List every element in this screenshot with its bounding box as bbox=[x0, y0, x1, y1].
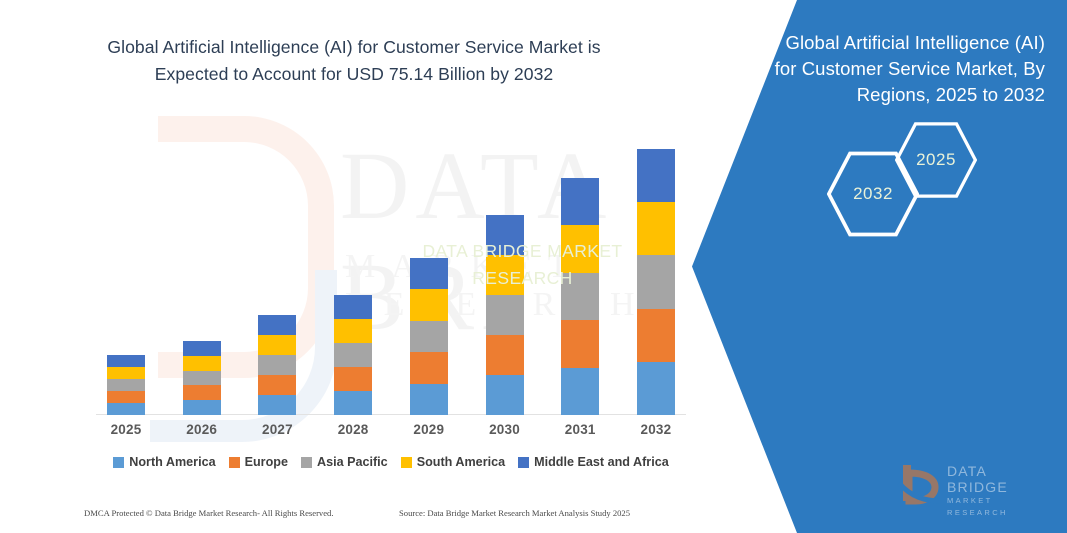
bar-segment bbox=[334, 319, 372, 343]
legend-item[interactable]: Middle East and Africa bbox=[518, 455, 669, 469]
x-axis-tick-2030: 2030 bbox=[475, 422, 535, 437]
infographic-canvas: DATA BRI MARKET RESEARCH Global Artifici… bbox=[0, 0, 1067, 533]
x-axis-tick-2029: 2029 bbox=[399, 422, 459, 437]
bar-segment bbox=[637, 362, 675, 415]
bar-segment bbox=[183, 400, 221, 415]
x-axis-tick-2028: 2028 bbox=[323, 422, 383, 437]
bar-segment bbox=[107, 403, 145, 415]
x-axis-tick-2025: 2025 bbox=[96, 422, 156, 437]
bar-segment bbox=[561, 320, 599, 367]
legend-item[interactable]: Europe bbox=[229, 455, 288, 469]
x-axis-tick-2032: 2032 bbox=[626, 422, 686, 437]
bar-segment bbox=[183, 356, 221, 371]
x-axis-tick-labels: 20252026202720282029203020312032 bbox=[96, 422, 686, 437]
bar-segment bbox=[107, 355, 145, 367]
bar-segment bbox=[107, 379, 145, 391]
bar-segment bbox=[258, 335, 296, 355]
legend-item[interactable]: North America bbox=[113, 455, 215, 469]
legend-swatch-icon bbox=[113, 457, 124, 468]
x-axis-tick-2031: 2031 bbox=[550, 422, 610, 437]
legend-item[interactable]: South America bbox=[401, 455, 505, 469]
legend-swatch-icon bbox=[301, 457, 312, 468]
hexagon-badge-2032-label: 2032 bbox=[853, 184, 893, 204]
stacked-bar bbox=[258, 315, 296, 415]
stacked-bar bbox=[334, 295, 372, 415]
bar-segment bbox=[637, 309, 675, 362]
x-axis-tick-2026: 2026 bbox=[172, 422, 232, 437]
legend-label: Middle East and Africa bbox=[534, 455, 669, 469]
bar-segment bbox=[334, 343, 372, 367]
hexagon-badges: 2032 2025 bbox=[0, 116, 1067, 226]
footer: DMCA Protected © Data Bridge Market Rese… bbox=[84, 508, 684, 524]
bar-segment bbox=[107, 367, 145, 379]
bar-segment bbox=[183, 371, 221, 386]
stacked-bar bbox=[183, 341, 221, 415]
bar-segment bbox=[107, 391, 145, 403]
bar-segment bbox=[258, 355, 296, 375]
bar-segment bbox=[410, 321, 448, 352]
bar-segment bbox=[486, 335, 524, 375]
chart-legend: North AmericaEuropeAsia PacificSouth Ame… bbox=[96, 455, 686, 469]
bar-segment bbox=[183, 341, 221, 356]
hexagon-badge-2025-label: 2025 bbox=[916, 150, 956, 170]
bar-segment bbox=[334, 295, 372, 319]
bar-segment bbox=[410, 384, 448, 415]
logo-line-2: MARKET RESEARCH bbox=[947, 495, 1045, 519]
panel-brand-text: DATA BRIDGE MARKET RESEARCH bbox=[0, 238, 1045, 292]
data-bridge-logo: DATA BRIDGE MARKET RESEARCH bbox=[895, 461, 1045, 505]
footer-copyright: DMCA Protected © Data Bridge Market Rese… bbox=[84, 508, 334, 518]
stacked-bar bbox=[107, 355, 145, 415]
bar-segment bbox=[258, 395, 296, 415]
logo-mark-icon bbox=[895, 461, 945, 505]
legend-label: South America bbox=[417, 455, 505, 469]
bar-segment bbox=[258, 315, 296, 335]
legend-swatch-icon bbox=[401, 457, 412, 468]
bar-segment bbox=[334, 391, 372, 415]
bar-segment bbox=[486, 295, 524, 335]
legend-label: North America bbox=[129, 455, 215, 469]
x-axis-tick-2027: 2027 bbox=[247, 422, 307, 437]
footer-source: Source: Data Bridge Market Research Mark… bbox=[399, 508, 630, 518]
hexagon-badge-2025: 2025 bbox=[895, 119, 977, 201]
legend-label: Europe bbox=[245, 455, 288, 469]
panel-title: Global Artificial Intelligence (AI) for … bbox=[0, 30, 1045, 108]
bar-segment bbox=[183, 385, 221, 400]
legend-swatch-icon bbox=[518, 457, 529, 468]
legend-item[interactable]: Asia Pacific bbox=[301, 455, 388, 469]
logo-line-1: DATA BRIDGE bbox=[947, 463, 1045, 495]
bar-segment bbox=[410, 289, 448, 320]
bar-segment bbox=[561, 368, 599, 415]
bar-segment bbox=[258, 375, 296, 395]
legend-label: Asia Pacific bbox=[317, 455, 388, 469]
legend-swatch-icon bbox=[229, 457, 240, 468]
logo-wordmark: DATA BRIDGE MARKET RESEARCH bbox=[947, 463, 1045, 519]
bar-segment bbox=[486, 375, 524, 415]
bar-segment bbox=[334, 367, 372, 391]
bar-segment bbox=[410, 352, 448, 383]
